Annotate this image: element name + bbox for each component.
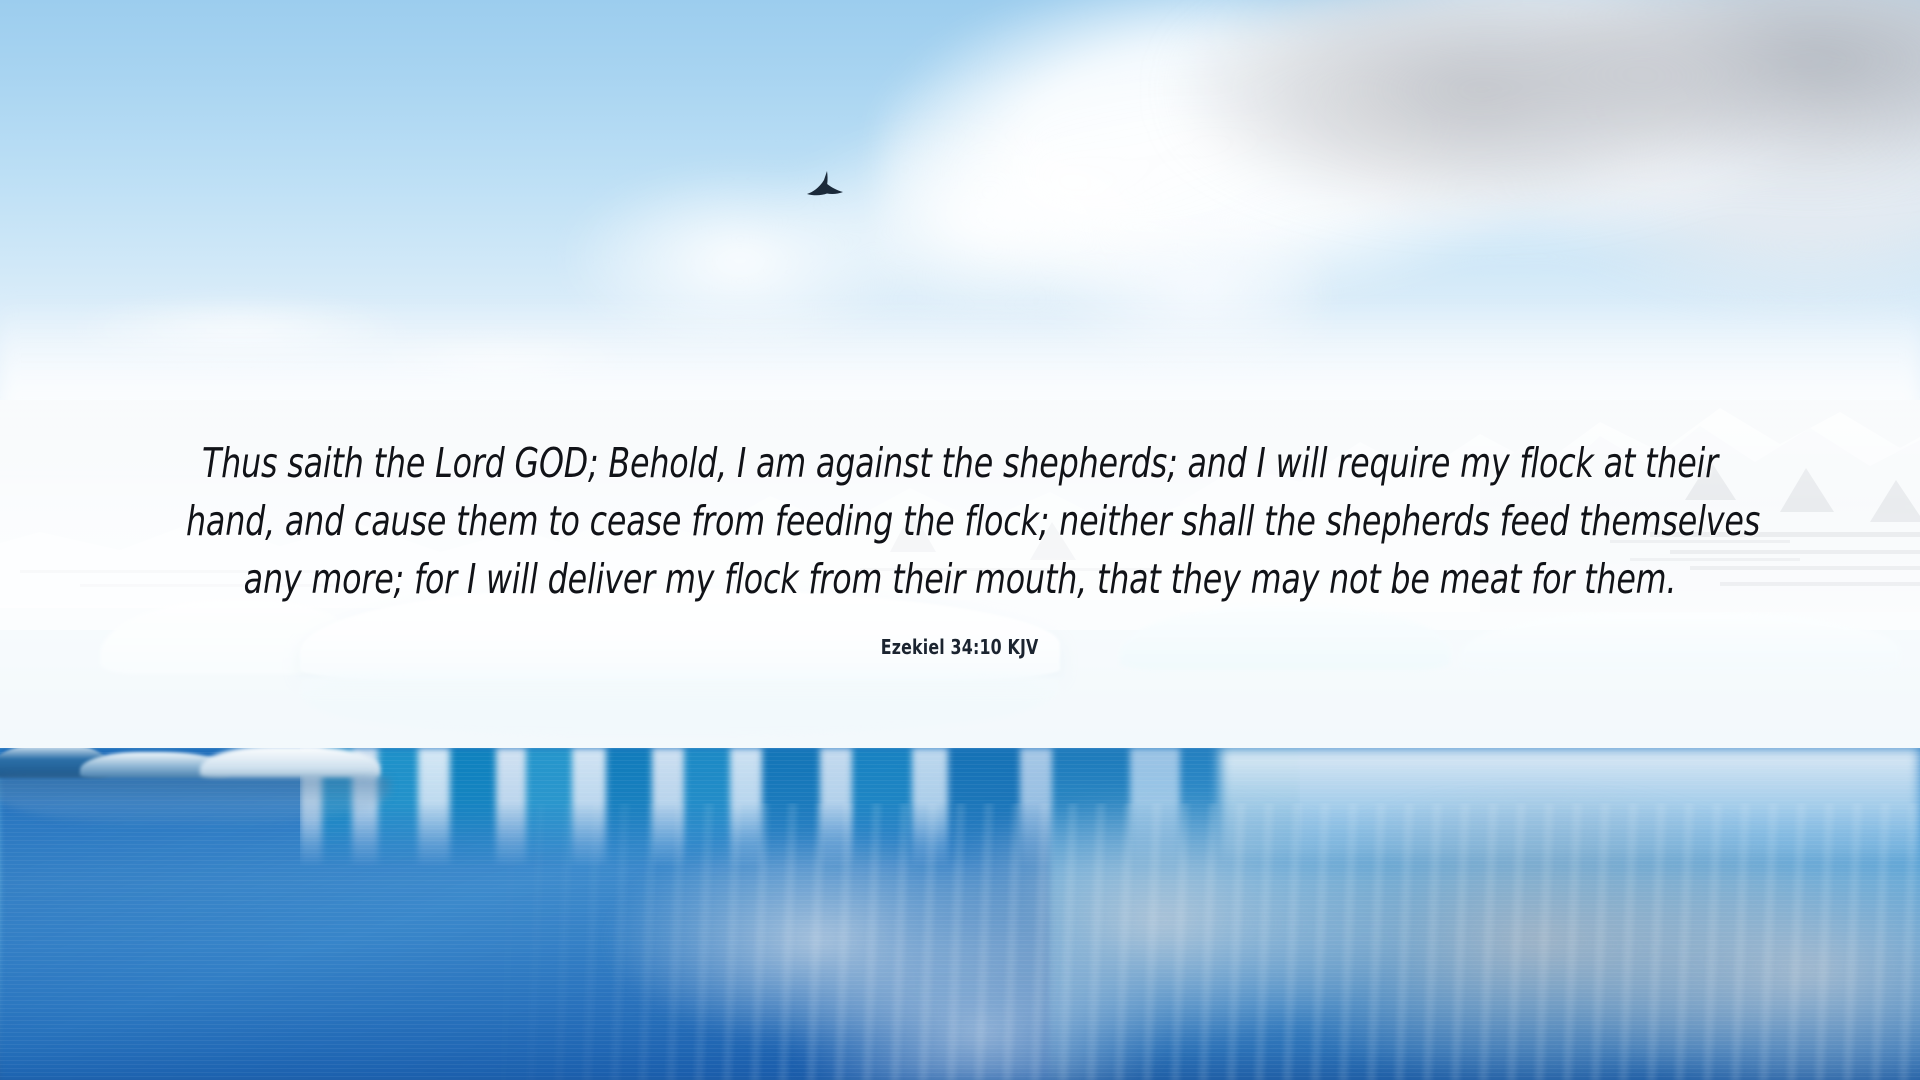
verse-line-3: any more; for I will deliver my flock fr…: [186, 550, 1734, 608]
verse-overlay-band: Thus saith the Lord GOD; Behold, I am ag…: [0, 400, 1920, 748]
seagull-icon: [805, 168, 851, 202]
small-iceberg-3: [200, 748, 380, 778]
wallpaper-canvas: Thus saith the Lord GOD; Behold, I am ag…: [0, 0, 1920, 1080]
sky-background: [0, 0, 1920, 412]
verse-text: Thus saith the Lord GOD; Behold, I am ag…: [186, 434, 1734, 609]
cloud-haze-band: [0, 300, 1920, 415]
verse-line-2: hand, and cause them to cease from feedi…: [186, 492, 1734, 550]
verse-line-1: Thus saith the Lord GOD; Behold, I am ag…: [186, 434, 1734, 492]
verse-reference: Ezekiel 34:10 KJV: [881, 635, 1039, 659]
lagoon-water: [0, 748, 1920, 1080]
